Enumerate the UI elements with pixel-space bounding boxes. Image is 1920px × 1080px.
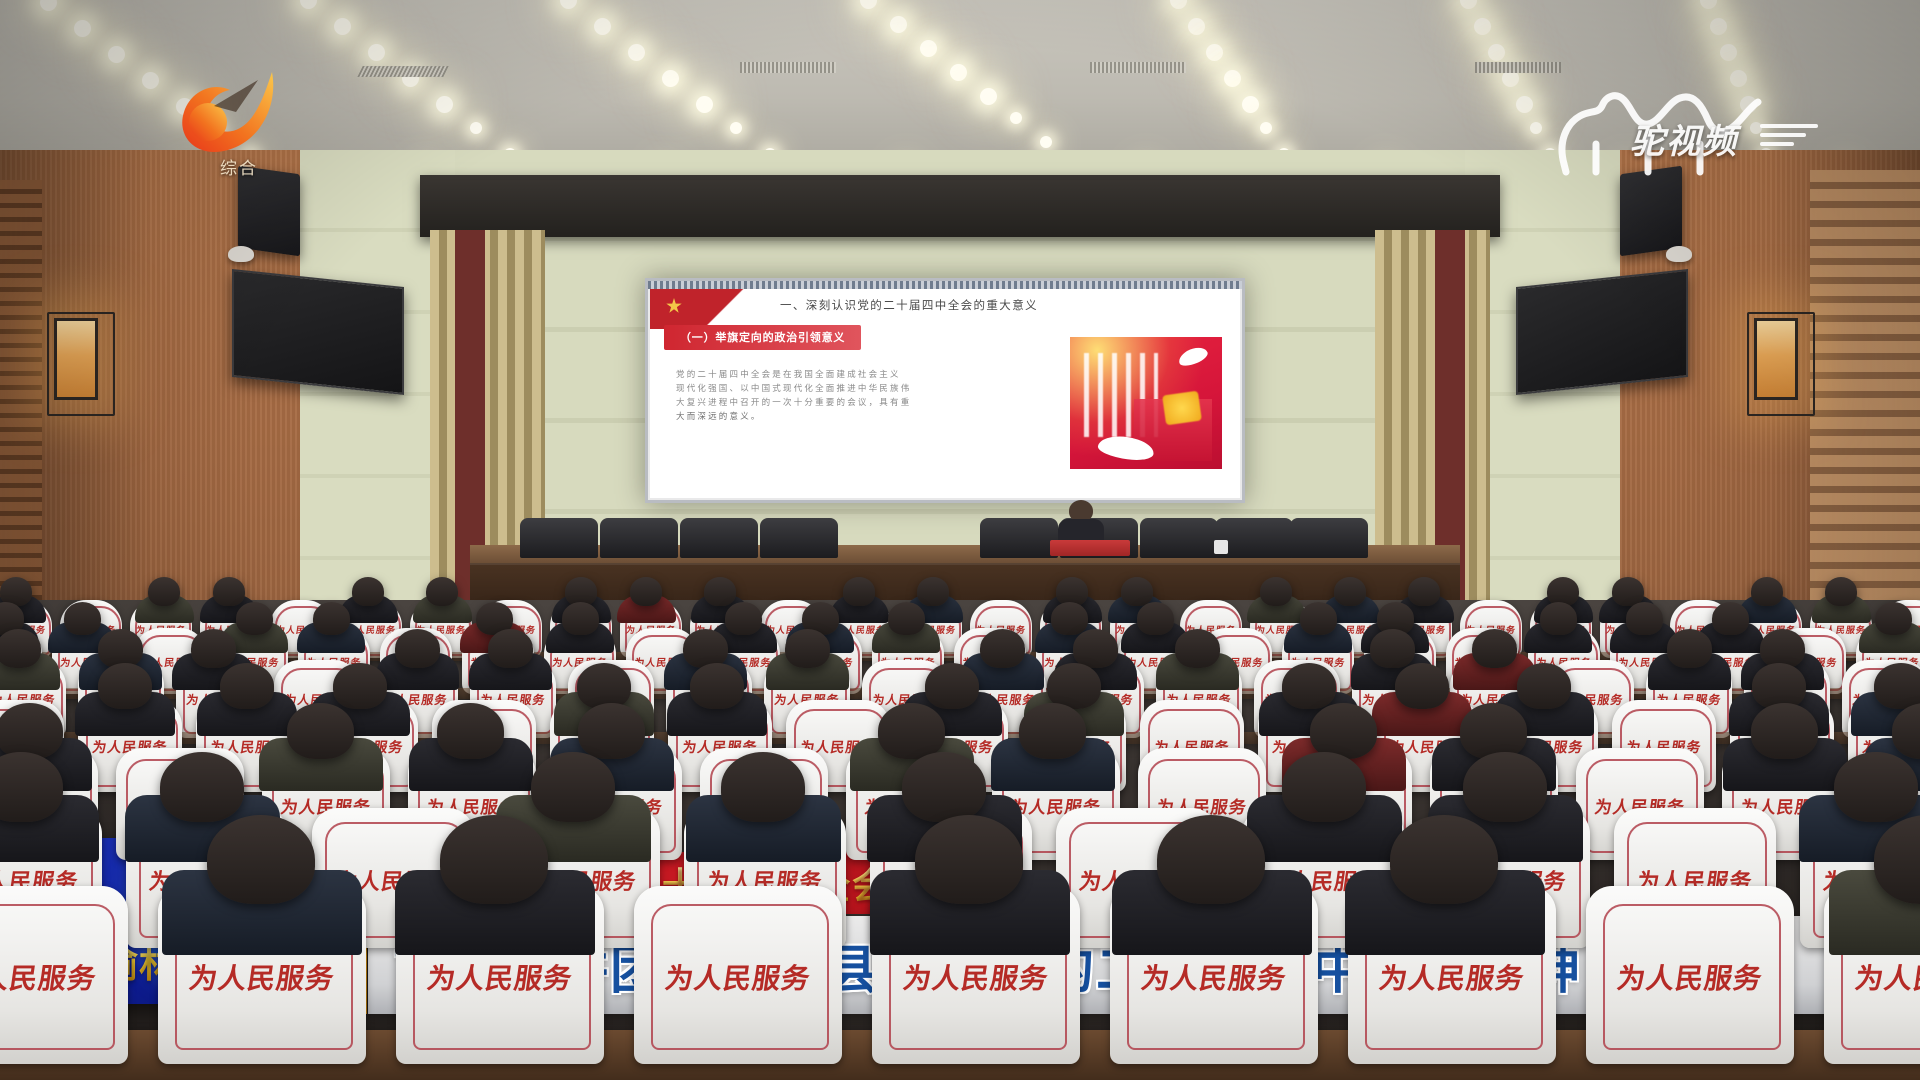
slide-subheading: （一）举旗定向的政治引领意义	[664, 325, 861, 350]
audience-member-head	[1626, 602, 1663, 635]
air-vent	[1475, 62, 1561, 73]
audience-member-head	[980, 629, 1025, 668]
audience-member-head	[578, 703, 645, 759]
audience-member-head	[0, 703, 63, 759]
audience-member-head	[843, 577, 875, 606]
audience-member-head	[1517, 663, 1571, 709]
ceiling-light	[730, 122, 742, 134]
stage-chair	[520, 518, 598, 558]
ceiling-light	[1530, 122, 1542, 134]
audience-member-head	[1370, 629, 1415, 668]
audience-member-head	[888, 602, 925, 635]
channel-bug: 综合	[160, 62, 310, 182]
audience-member-head	[1752, 663, 1806, 709]
audience-member-head	[785, 629, 830, 668]
audience-member-head	[1121, 577, 1153, 606]
audience-member-head	[683, 629, 728, 668]
ceiling-light	[1040, 136, 1052, 148]
broadcast-frame: 一、深刻认识党的二十届四中全会的重大意义 （一）举旗定向的政治引领意义 党的二十…	[0, 0, 1920, 1080]
audience-member-head	[1712, 602, 1749, 635]
ceiling-light	[662, 70, 679, 87]
chair-cover-text: 为人民服务	[158, 957, 366, 997]
ceiling-light	[368, 44, 385, 61]
audience-chair: 为人民服务	[0, 886, 128, 1064]
audience-member-head	[1751, 703, 1818, 759]
air-vent	[1090, 62, 1186, 73]
audience-member-head	[160, 752, 244, 822]
watermark-speed-lines	[1760, 124, 1818, 151]
ceiling-light	[950, 64, 967, 81]
chair-cover-text: 为人民服务	[396, 957, 604, 997]
audience-member-head	[1019, 703, 1086, 759]
ceiling-light	[74, 20, 91, 37]
ceiling-light	[1188, 18, 1205, 35]
watermark-text: 驼视频	[1630, 114, 1738, 163]
audience-member-head	[1137, 602, 1174, 635]
audience-member-head	[878, 703, 945, 759]
ceiling-light	[1488, 44, 1505, 61]
audience-member-head	[1834, 752, 1918, 822]
audience-member-head	[1875, 602, 1912, 635]
ceiling-light	[1474, 18, 1491, 35]
slide-body-line: 大而深远的意义。	[676, 409, 976, 423]
channel-name-label: 综合	[220, 154, 258, 179]
audience-member-head	[287, 703, 354, 759]
audience-member-head	[426, 577, 458, 606]
ceiling-light	[1206, 44, 1223, 61]
audience-member-head	[148, 577, 180, 606]
slide-body-line: 党的二十届四中全会是在我国全面建成社会主义	[676, 367, 976, 381]
audience-member-head	[1282, 663, 1336, 709]
audience-member-head	[1874, 663, 1920, 709]
audience-member-head	[98, 663, 152, 709]
ceiling-light	[594, 18, 611, 35]
ceiling-light	[436, 96, 453, 113]
audience-chair: 为人民服务	[1586, 886, 1794, 1064]
audience-member-head	[1472, 629, 1517, 668]
ceiling-light	[628, 44, 645, 61]
right-wall-sconce	[1754, 318, 1798, 400]
audience-member-head	[562, 602, 599, 635]
left-ceiling-camera-icon	[228, 246, 254, 262]
dove-icon	[1176, 344, 1209, 369]
stage-chair	[980, 518, 1058, 558]
audience-member-head	[1310, 703, 1377, 759]
right-wall-monitor	[1516, 269, 1688, 395]
water-cup	[1214, 540, 1228, 554]
audience-member-head	[191, 629, 236, 668]
audience-member-head	[690, 663, 744, 709]
audience-member-head	[721, 752, 805, 822]
audience-member-head	[1390, 815, 1498, 904]
audience-member-head	[220, 663, 274, 709]
stage-chair	[680, 518, 758, 558]
ceiling-light	[142, 72, 159, 89]
chair-cover-text: 为人民服务	[1824, 957, 1920, 997]
air-vent	[740, 62, 836, 73]
video-watermark: 驼视频	[1552, 72, 1812, 180]
audience-member-head	[0, 629, 41, 668]
audience-member-head	[1540, 602, 1577, 635]
stage-chair	[600, 518, 678, 558]
audience-member-head	[1395, 663, 1449, 709]
ceiling-light	[696, 96, 713, 113]
audience-member-head	[352, 577, 384, 606]
audience-member-head	[1157, 815, 1265, 904]
ceiling-light	[1260, 122, 1272, 134]
ceiling-light	[1516, 96, 1533, 113]
audience-member-head	[917, 577, 949, 606]
audience-member-head	[925, 663, 979, 709]
stage-chair	[1290, 518, 1368, 558]
party-emblem-icon	[650, 289, 778, 329]
ceiling-light	[980, 88, 997, 105]
chair-cover-text: 为人民服务	[1586, 957, 1794, 997]
audience-member-head	[1051, 602, 1088, 635]
stage-chair	[1140, 518, 1218, 558]
audience-member-head	[437, 703, 504, 759]
audience-member-head	[313, 602, 350, 635]
ceiling-light	[470, 122, 482, 134]
audience-member-head	[1073, 629, 1118, 668]
audience-member-head	[531, 752, 615, 822]
projection-screen: 一、深刻认识党的二十届四中全会的重大意义 （一）举旗定向的政治引领意义 党的二十…	[645, 278, 1245, 503]
audience-member-head	[630, 577, 662, 606]
stage-chair	[760, 518, 838, 558]
ceiling-light	[1710, 18, 1727, 35]
audience-member-head	[1260, 577, 1292, 606]
right-ceiling-camera-icon	[1666, 246, 1692, 262]
screen-top-trim	[648, 281, 1242, 289]
phoenix-bird-logo-icon	[174, 62, 284, 158]
audience-member-head	[1825, 577, 1857, 606]
air-vent	[357, 66, 448, 77]
audience-member-head	[236, 602, 273, 635]
audience-member-head	[577, 663, 631, 709]
stage-header-beam	[420, 175, 1500, 237]
audience-member-head	[98, 629, 143, 668]
ceiling-light	[108, 46, 125, 63]
chair-cover-text: 为人民服务	[1348, 957, 1556, 997]
chair-cover-text: 为人民服务	[1110, 957, 1318, 997]
ceiling-light	[890, 16, 907, 33]
audience-member-head	[1282, 752, 1366, 822]
audience-member-head	[1175, 629, 1220, 668]
slide-poster-graphic	[1070, 337, 1222, 469]
audience-member-head	[1751, 577, 1783, 606]
speaker-nameplate	[1050, 540, 1130, 556]
presentation-slide: 一、深刻认识党的二十届四中全会的重大意义 （一）举旗定向的政治引领意义 党的二十…	[650, 289, 1240, 498]
audience-member-head	[704, 577, 736, 606]
audience-member-head	[1463, 752, 1547, 822]
audience-member-head	[902, 752, 986, 822]
audience-member-head	[1760, 629, 1805, 668]
chair-cover-text: 为人民服务	[634, 957, 842, 997]
audience-member-head	[915, 815, 1023, 904]
audience-member-head	[488, 629, 533, 668]
audience-member-head	[333, 663, 387, 709]
audience-member-head	[395, 629, 440, 668]
slide-body-text: 党的二十届四中全会是在我国全面建成社会主义 现代化强国、以中国式现代化全面推进中…	[676, 367, 976, 423]
ceiling-light	[920, 40, 937, 57]
slide-body-line: 现代化强国、以中国式现代化全面推进中华民族伟	[676, 381, 976, 395]
chair-cover-text: 为人民服务	[0, 957, 128, 997]
audience-member-head	[1667, 629, 1712, 668]
audience-member-head	[64, 602, 101, 635]
ceiling-light	[334, 18, 351, 35]
ceiling-light	[1224, 70, 1241, 87]
chair-cover-text: 为人民服务	[872, 957, 1080, 997]
poster-party-emblem-icon	[1162, 391, 1202, 426]
audience-member-head	[1460, 703, 1527, 759]
left-wall-sconce	[54, 318, 98, 400]
audience-member-head	[725, 602, 762, 635]
ceiling-light	[1720, 44, 1737, 61]
left-wall-monitor	[232, 269, 404, 395]
audience-member-head	[1408, 577, 1440, 606]
ceiling-light	[1010, 112, 1022, 124]
audience-member-head	[213, 577, 245, 606]
audience-member-head	[207, 815, 315, 904]
audience-member-head	[1334, 577, 1366, 606]
ceiling-light	[1242, 96, 1259, 113]
audience-chair: 为人民服务	[634, 886, 842, 1064]
slide-body-line: 大复兴进程中召开的一次十分重要的会议，具有重	[676, 395, 976, 409]
audience-member-head	[440, 815, 548, 904]
audience-member-head	[1300, 602, 1337, 635]
slide-heading: 一、深刻认识党的二十届四中全会的重大意义	[780, 297, 1232, 313]
